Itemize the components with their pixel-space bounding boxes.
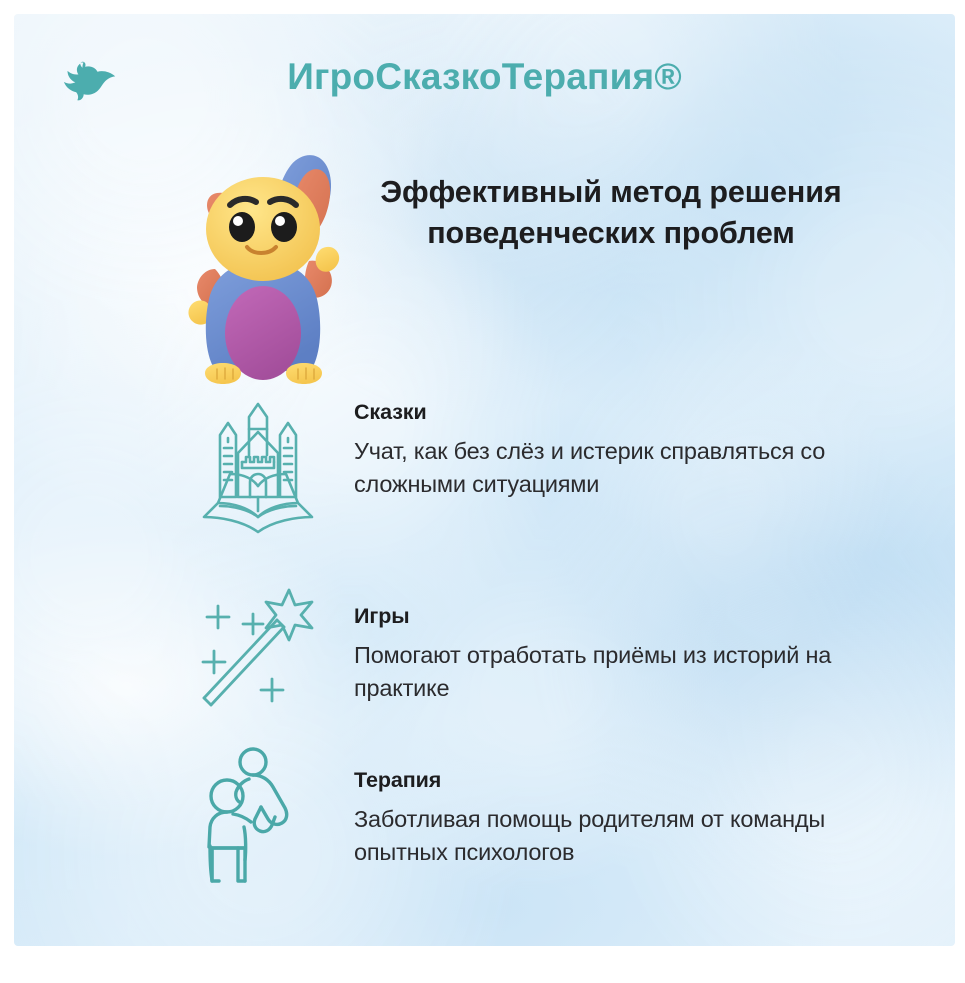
feature-title: Терапия [354,768,914,793]
promo-poster-card: ИгроСказкоТерапия® [14,14,955,946]
feature-body: Помогают отработать приёмы из историй на… [354,639,914,706]
hero-section: Эффективный метод решения поведенческих … [14,126,955,381]
feature-text-terapiya: Терапия Заботливая помощь родителям от к… [354,768,914,870]
page-title: ИгроСказкоТерапия® [14,56,955,98]
feature-body: Заботливая помощь родителям от команды о… [354,803,914,870]
feature-text-skazki: Сказки Учат, как без слёз и истерик спра… [354,400,914,502]
feature-text-igry: Игры Помогают отработать приёмы из истор… [354,604,914,706]
feature-body: Учат, как без слёз и истерик справляться… [354,435,914,502]
magic-wand-sparkles-icon [194,584,326,714]
hero-headline: Эффективный метод решения поведенческих … [376,172,846,255]
feature-title: Сказки [354,400,914,425]
parent-holding-child-icon [197,744,323,884]
feature-title: Игры [354,604,914,629]
castle-book-icon [192,396,324,530]
mascot-creature-illustration [159,141,369,386]
